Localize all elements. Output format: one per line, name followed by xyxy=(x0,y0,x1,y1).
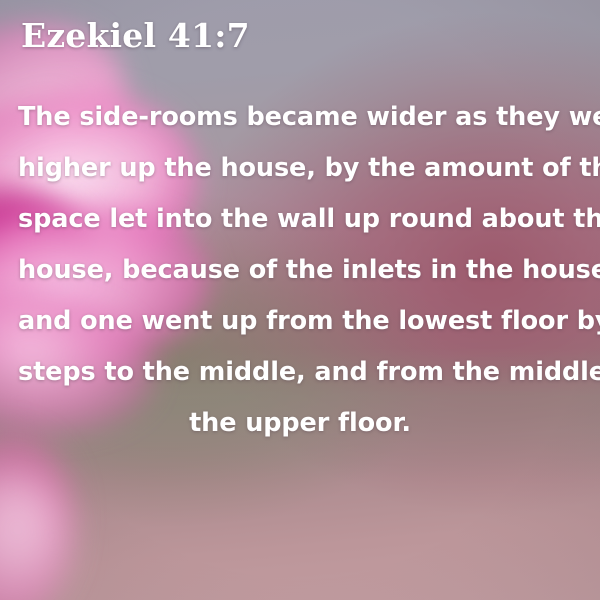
verse-image-card: Ezekiel 41:7 The side-rooms became wider… xyxy=(0,0,600,600)
text-overlay: Ezekiel 41:7 The side-rooms became wider… xyxy=(0,0,600,600)
verse-line: steps to the middle, and from the middle… xyxy=(18,347,582,398)
verse-line: The side-rooms became wider as they went xyxy=(18,92,582,143)
verse-line: house, because of the inlets in the hous… xyxy=(18,245,582,296)
verse-line: the upper floor. xyxy=(18,398,582,449)
verse-line: and one went up from the lowest floor by xyxy=(18,296,582,347)
verse-text-block: The side-rooms became wider as they went… xyxy=(18,92,582,449)
verse-line: space let into the wall up round about t… xyxy=(18,194,582,245)
page-title: Ezekiel 41:7 xyxy=(21,16,250,56)
verse-line: higher up the house, by the amount of th… xyxy=(18,143,582,194)
